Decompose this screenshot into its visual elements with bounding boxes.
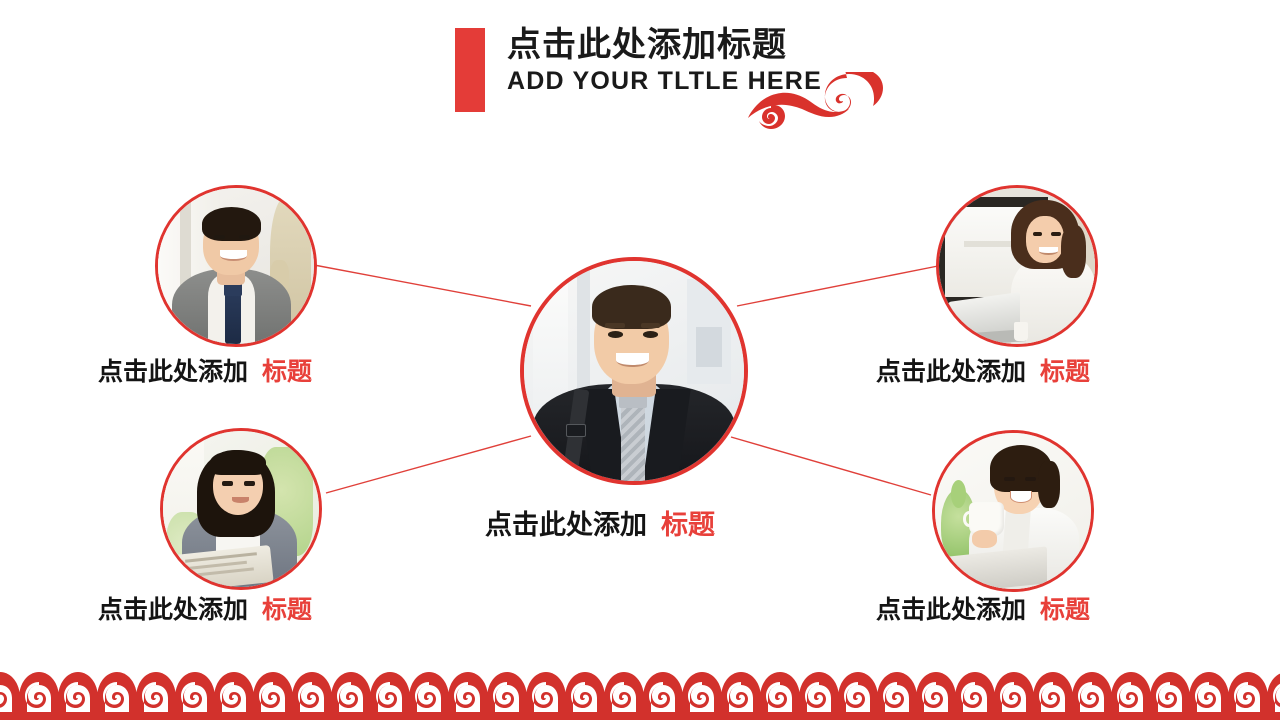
node-label-accent: 标题 [1040, 596, 1090, 624]
connector-topleft-center [314, 265, 531, 306]
node-label-accent: 标题 [262, 358, 312, 386]
slide-title-block: 点击此处添加标题 ADD YOUR TLTLE HERE [455, 28, 822, 112]
node-label-main: 点击此处添加 [485, 510, 647, 540]
photo-woman-reading-newspaper [163, 431, 319, 587]
node-label-center[interactable]: 点击此处添加标题 [485, 512, 715, 539]
title-accent-bar [455, 28, 485, 112]
bottom-cloud-border [0, 672, 1280, 720]
node-label-top-right[interactable]: 点击此处添加标题 [876, 360, 1090, 385]
page-title-en[interactable]: ADD YOUR TLTLE HERE [507, 69, 822, 94]
connector-bottomleft-center [326, 436, 531, 493]
avatar-top-left[interactable] [155, 185, 317, 347]
node-label-accent: 标题 [1040, 358, 1090, 386]
node-label-main: 点击此处添加 [98, 358, 248, 386]
connector-center-topright [737, 266, 938, 306]
slide-canvas: 点击此处添加标题 ADD YOUR TLTLE HERE [0, 0, 1280, 720]
avatar-center[interactable] [520, 257, 748, 485]
avatar-top-right[interactable] [936, 185, 1098, 347]
node-label-accent: 标题 [661, 510, 715, 540]
photo-woman-holding-mug [935, 433, 1091, 589]
photo-businessman-black-suit [524, 261, 744, 481]
node-label-bottom-left[interactable]: 点击此处添加标题 [98, 598, 312, 623]
photo-smiling-businessman [158, 188, 314, 344]
node-label-bottom-right[interactable]: 点击此处添加标题 [876, 598, 1090, 623]
photo-woman-at-whiteboard [939, 188, 1095, 344]
avatar-bottom-right[interactable] [932, 430, 1094, 592]
node-label-top-left[interactable]: 点击此处添加标题 [98, 360, 312, 385]
connector-center-bottomright [731, 437, 931, 495]
page-title-cn[interactable]: 点击此处添加标题 [507, 28, 822, 62]
node-label-main: 点击此处添加 [876, 596, 1026, 624]
avatar-bottom-left[interactable] [160, 428, 322, 590]
node-label-main: 点击此处添加 [98, 596, 248, 624]
title-texts: 点击此处添加标题 ADD YOUR TLTLE HERE [507, 28, 822, 94]
node-label-accent: 标题 [262, 596, 312, 624]
node-label-main: 点击此处添加 [876, 358, 1026, 386]
